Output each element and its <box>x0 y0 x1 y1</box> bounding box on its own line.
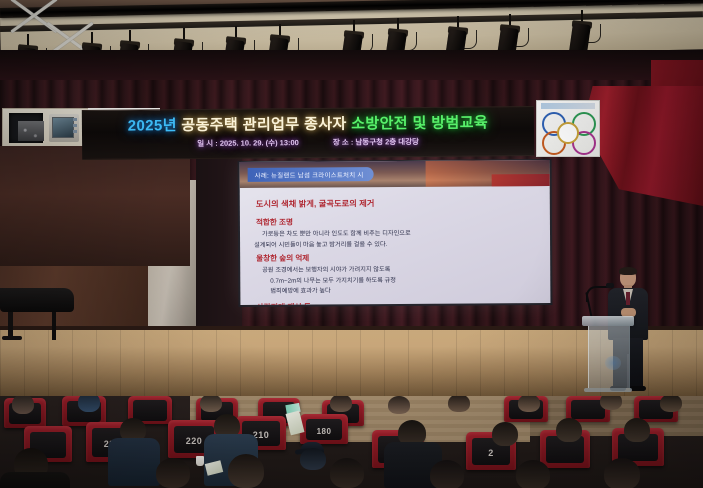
slide-subbullet-3c: 범죄예방에 효과가 높다 <box>270 286 540 296</box>
banner-title-middle: 공동주택 관리업무 종사자 <box>181 116 346 134</box>
audience-head <box>600 396 622 410</box>
speaker-tie <box>626 292 630 305</box>
piano-foot <box>2 336 22 340</box>
slide-bullet-1: 도시의 색채 밝게, 굴곡도로의 제거 <box>256 196 540 210</box>
audience-head-front <box>228 454 264 488</box>
auditorium-photo: 2025년 공동주택 관리업무 종사자 소방안전 및 방범교육 일 시 : 20… <box>0 0 703 488</box>
booth-base-wall <box>0 146 190 266</box>
audience-head <box>492 422 518 446</box>
slide-subbullet-3b: 0.7m~2m의 나무는 모두 가지치기를 하도록 규정 <box>270 276 540 286</box>
audience-area: 230 220 210 180 401 2 <box>0 396 703 488</box>
podium-emblem-icon <box>605 356 621 370</box>
audience-head <box>388 396 410 414</box>
banner-title-year: 2025년 <box>128 117 177 134</box>
slide-section-tab: 사례: 뉴질랜드 남섬 크라이스트처치 시 <box>248 167 374 181</box>
audience-head-front <box>330 458 364 488</box>
audience-head-front <box>430 460 464 488</box>
piano-leg <box>8 312 13 338</box>
banner-title-row: 2025년 공동주택 관리업무 종사자 소방안전 및 방범교육 <box>82 111 534 136</box>
equipment-bay <box>9 113 43 143</box>
banner-detail-row: 일 시 : 2025. 10. 29. (수) 13:00 장 소 : 남동구청… <box>82 135 534 150</box>
banner-title-highlight: 소방안전 및 방범교육 <box>351 114 488 132</box>
speaker-hair <box>619 267 637 275</box>
monitor-buttons <box>73 118 77 134</box>
audience-head <box>448 396 470 412</box>
control-booth <box>2 108 90 148</box>
audience-head <box>200 396 222 412</box>
piano-body <box>0 288 74 312</box>
audience-head <box>660 396 682 412</box>
side-dark-panel <box>196 150 242 330</box>
projection-screen: 사례: 뉴질랜드 남섬 크라이스트처치 시 도시의 색채 밝게, 굴곡도로의 제… <box>240 160 551 305</box>
audience-head-front <box>156 458 190 488</box>
audience-head <box>556 418 582 442</box>
poster-header <box>541 103 595 109</box>
slide-subbullet-2a: 가로등은 차도 뿐만 아니라 인도도 함께 비추는 디자인으로 <box>262 229 540 239</box>
podium-base <box>584 388 632 392</box>
audience-head-capped <box>300 448 326 470</box>
audience-torso <box>108 438 160 486</box>
audience-cap-head <box>78 396 100 412</box>
cables <box>15 119 49 147</box>
audience-head <box>624 418 650 442</box>
slide-subbullet-2b: 설계되어 시민들이 마음 놓고 밤거리를 걸을 수 있다. <box>254 240 540 250</box>
audience-head <box>518 396 540 412</box>
led-banner: 2025년 공동주택 관리업무 종사자 소방안전 및 방범교육 일 시 : 20… <box>82 106 534 160</box>
audience-head <box>330 396 352 412</box>
microphone-gooseneck <box>586 286 610 302</box>
audience-torso-front <box>0 472 70 488</box>
curtain-valance <box>0 50 703 80</box>
crt-monitor <box>49 114 79 142</box>
audience-head-front <box>516 460 550 488</box>
slide-subbullet-3a: 공원 조경에서는 보행자의 시야가 가려지지 않도록 <box>262 265 540 275</box>
grand-piano <box>0 288 78 344</box>
slide-red-accent <box>492 174 550 186</box>
slide-header-photo: 사례: 뉴질랜드 남섬 크라이스트처치 시 <box>240 160 550 188</box>
audience-head <box>12 396 34 414</box>
paper-cup <box>196 456 204 466</box>
monitor-screen <box>52 117 74 138</box>
podium-top <box>582 316 634 326</box>
banner-datetime: 일 시 : 2025. 10. 29. (수) 13:00 <box>197 137 299 149</box>
safety-campaign-poster <box>536 100 600 157</box>
banner-location: 장 소 : 남동구청 2층 대강당 <box>333 136 419 148</box>
poster-circle-center <box>557 122 579 144</box>
podium-panel <box>588 326 630 388</box>
piano-leg <box>52 312 56 340</box>
microphone-head-icon <box>606 283 614 288</box>
seat-number: 180 <box>300 427 348 436</box>
slide-bullet-2: 적합한 조명 <box>256 215 540 228</box>
seat: 180 <box>300 414 348 444</box>
slide-bullet-3: 울창한 숲의 억제 <box>256 251 540 264</box>
seat-number: 2 <box>466 448 516 458</box>
audience-head-front <box>604 458 640 488</box>
slide-body: 도시의 색채 밝게, 굴곡도로의 제거 적합한 조명 가로등은 차도 뿐만 아니… <box>240 186 551 305</box>
podium <box>582 316 634 396</box>
